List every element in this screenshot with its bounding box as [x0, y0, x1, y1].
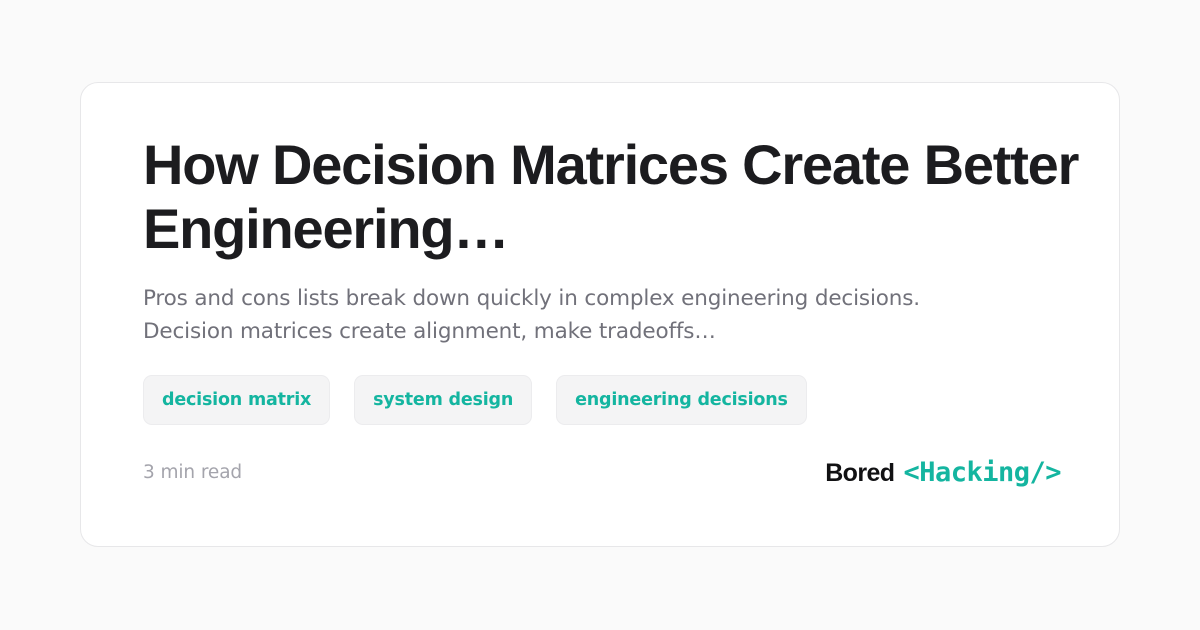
tag-engineering-decisions[interactable]: engineering decisions — [556, 375, 807, 425]
tag-decision-matrix[interactable]: decision matrix — [143, 375, 330, 425]
article-excerpt: Pros and cons lists break down quickly i… — [143, 282, 1003, 348]
tag-system-design[interactable]: system design — [354, 375, 532, 425]
brand-logo[interactable]: Bored <Hacking/> — [825, 457, 1061, 488]
card-footer: 3 min read Bored <Hacking/> — [143, 457, 1061, 488]
read-time-label: 3 min read — [143, 462, 242, 483]
card-content: How Decision Matrices Create Better Engi… — [143, 133, 1059, 488]
brand-name: Bored — [825, 459, 894, 488]
tag-list: decision matrix system design engineerin… — [143, 375, 1059, 425]
article-preview-card[interactable]: How Decision Matrices Create Better Engi… — [80, 82, 1120, 547]
brand-code-tag: <Hacking/> — [903, 457, 1061, 488]
page-title: How Decision Matrices Create Better Engi… — [143, 133, 1083, 261]
